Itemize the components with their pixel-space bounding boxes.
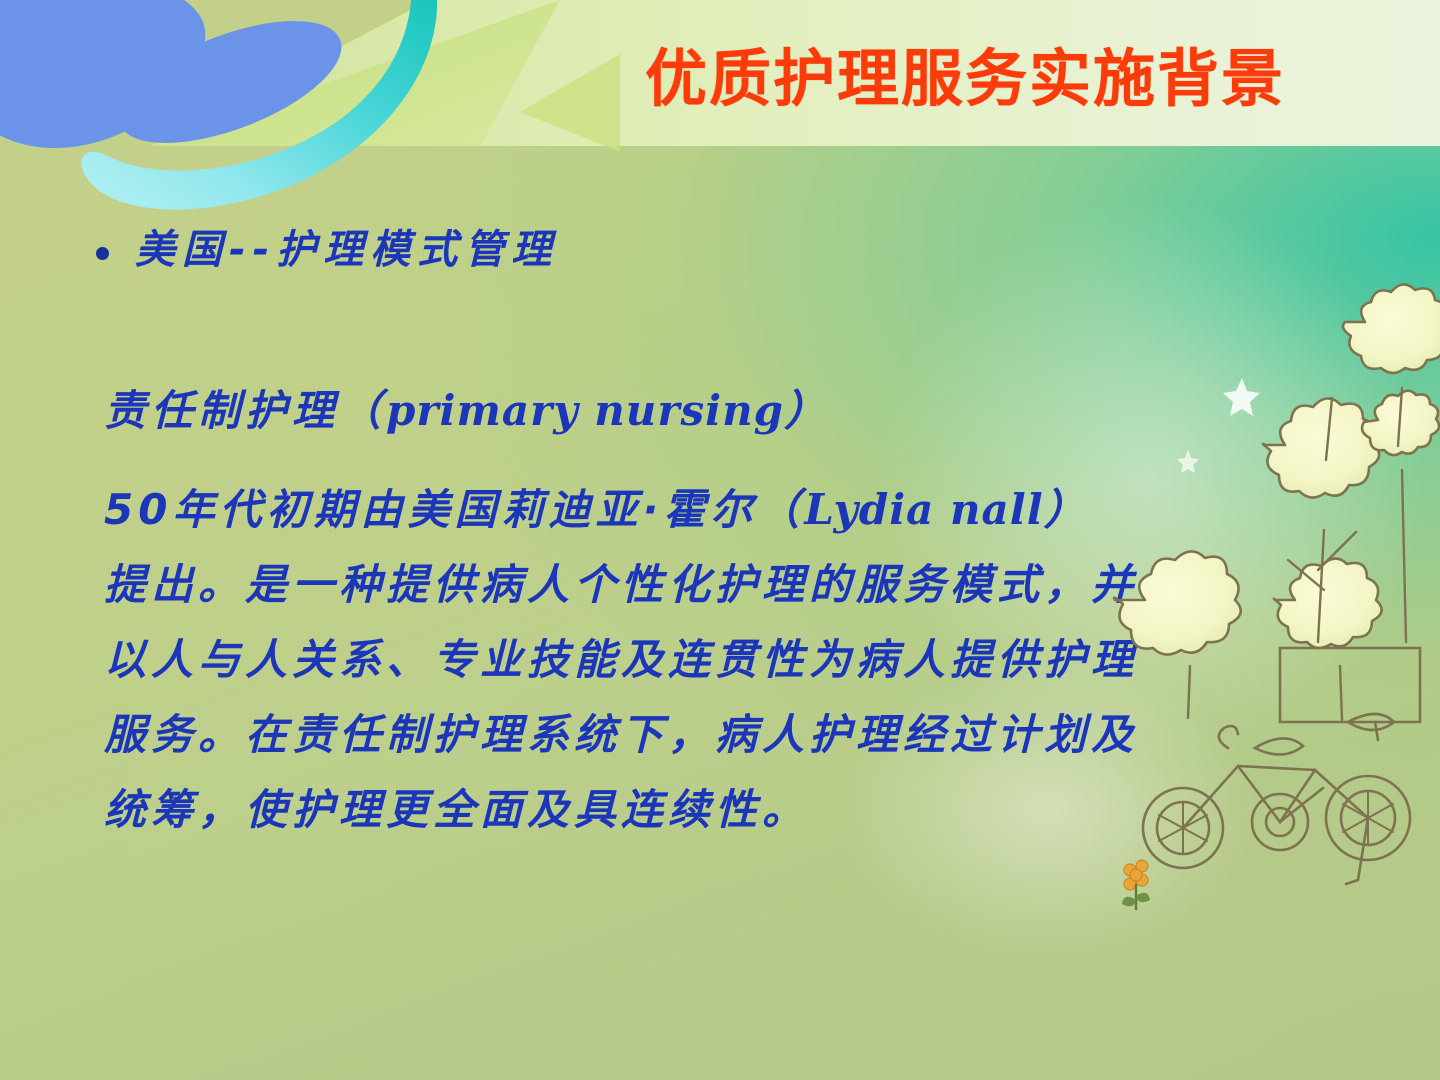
paragraph-line: 50年代初期由美国莉迪亚·霍尔（Lydia nall） — [104, 472, 1394, 547]
body-paragraph: 50年代初期由美国莉迪亚·霍尔（Lydia nall） 提出。是一种提供病人个性… — [104, 472, 1394, 847]
paragraph-line-text: 服务。在责任制护理系统下，病人护理经过计划及 — [104, 710, 1138, 759]
slide-body: 美国--护理模式管理 责任制护理（primary nursing） 50年代初期… — [0, 150, 1440, 1080]
paragraph-line-text: 提出。是一种提供病人个性化护理的服务模式，并 — [104, 560, 1138, 609]
paragraph-line: 统筹，使护理更全面及具连续性。 — [104, 772, 1394, 847]
lime-wedge-shape — [520, 54, 620, 152]
presentation-slide: 优质护理服务实施背景 美国--护理模式管理 责任制护理（primary nurs… — [0, 0, 1440, 1080]
paragraph-line-post: ） — [1044, 485, 1091, 534]
subheading-chinese: 责任制护理（ — [104, 386, 386, 435]
bullet-item: 美国--护理模式管理 — [96, 228, 558, 272]
bullet-dot-icon — [96, 247, 109, 260]
bullet-item-label: 美国--护理模式管理 — [135, 228, 558, 272]
page-title: 优质护理服务实施背景 — [645, 48, 1285, 110]
paragraph-line: 以人与人关系、专业技能及连贯性为病人提供护理 — [104, 622, 1394, 697]
paragraph-line: 服务。在责任制护理系统下，病人护理经过计划及 — [104, 697, 1394, 772]
paragraph-line: 提出。是一种提供病人个性化护理的服务模式，并 — [104, 547, 1394, 622]
paragraph-line-text: 以人与人关系、专业技能及连贯性为病人提供护理 — [104, 635, 1138, 684]
paragraph-line-text: 50年代初期由美国莉迪亚·霍尔（ — [104, 485, 804, 534]
paragraph-line-text: 统筹，使护理更全面及具连续性。 — [104, 785, 809, 834]
subheading-latin: primary nursing — [386, 386, 784, 435]
subheading: 责任制护理（primary nursing） — [104, 388, 831, 434]
paragraph-line-latin: Lydia nall — [804, 485, 1043, 534]
subheading-close-paren: ） — [784, 386, 831, 435]
